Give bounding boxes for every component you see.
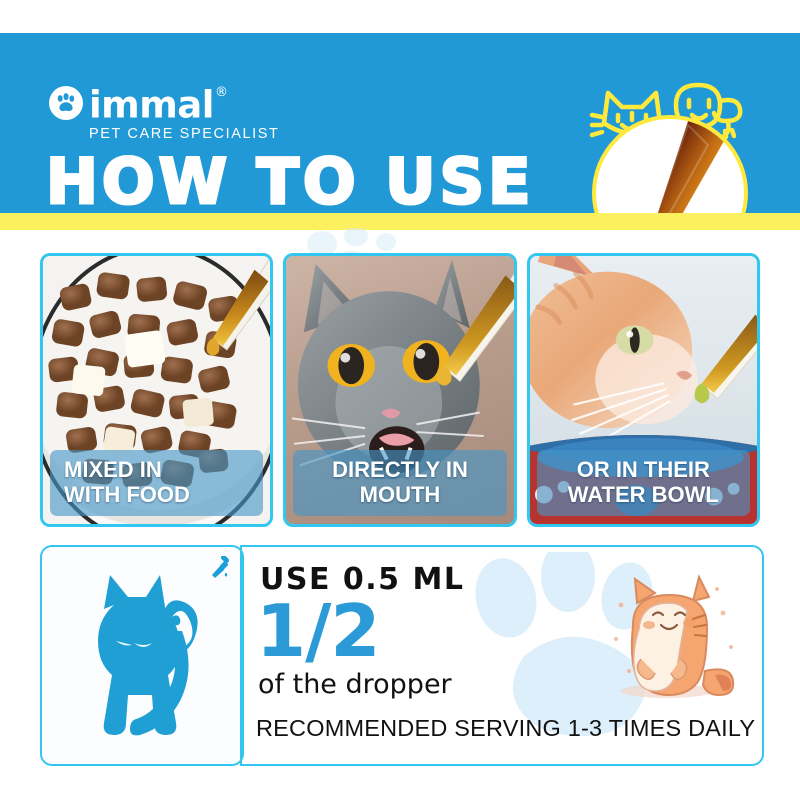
cat-silhouette-card [40,545,244,766]
panel-directly-in-mouth[interactable]: DIRECTLY IN MOUTH [283,253,516,527]
recommended-serving-text: RECOMMENDED SERVING 1-3 TIMES DAILY [256,715,755,742]
of-the-dropper-label: of the dropper [258,669,452,700]
brand-tagline: PET CARE SPECIALIST [89,126,280,142]
caption-line-2: MOUTH [299,482,500,507]
panel-caption: OR IN THEIR WATER BOWL [537,450,750,516]
caption-line-2: WATER BOWL [543,482,744,507]
poster-root: immal® PET CARE SPECIALIST HOW TO USE [0,0,800,800]
page-title: HOW TO USE [46,151,535,213]
panel-mixed-in-with-food[interactable]: MIXED IN WITH FOOD [40,253,273,527]
registered-mark: ® [215,85,228,100]
dosage-section: USE 0.5 ML 1/2 of the dropper RECOMMENDE… [40,545,760,762]
dosage-info: USE 0.5 ML 1/2 of the dropper RECOMMENDE… [240,545,764,766]
caption-line-1: OR IN THEIR [543,457,744,482]
brand-name-text: immal [89,83,214,126]
brand-text: immal® PET CARE SPECIALIST [89,83,280,142]
panel-caption: MIXED IN WITH FOOD [50,450,263,516]
panel-or-in-their-water-bowl[interactable]: OR IN THEIR WATER BOWL [527,253,760,527]
dropper-fraction: 1/2 [256,595,380,667]
panel-caption: DIRECTLY IN MOUTH [293,450,506,516]
usage-panels: MIXED IN WITH FOOD [40,253,760,527]
paw-circle-icon [48,85,84,121]
header-banner: immal® PET CARE SPECIALIST HOW TO USE [0,33,800,213]
dropper-icon [206,556,232,582]
brand-logo: immal® PET CARE SPECIALIST [48,83,280,142]
caption-line-2: WITH FOOD [64,482,257,507]
chubby-cartoon-cat-icon [597,567,742,702]
caption-line-1: MIXED IN [64,457,257,482]
brand-name: immal® [89,83,226,123]
caption-line-1: DIRECTLY IN [299,457,500,482]
